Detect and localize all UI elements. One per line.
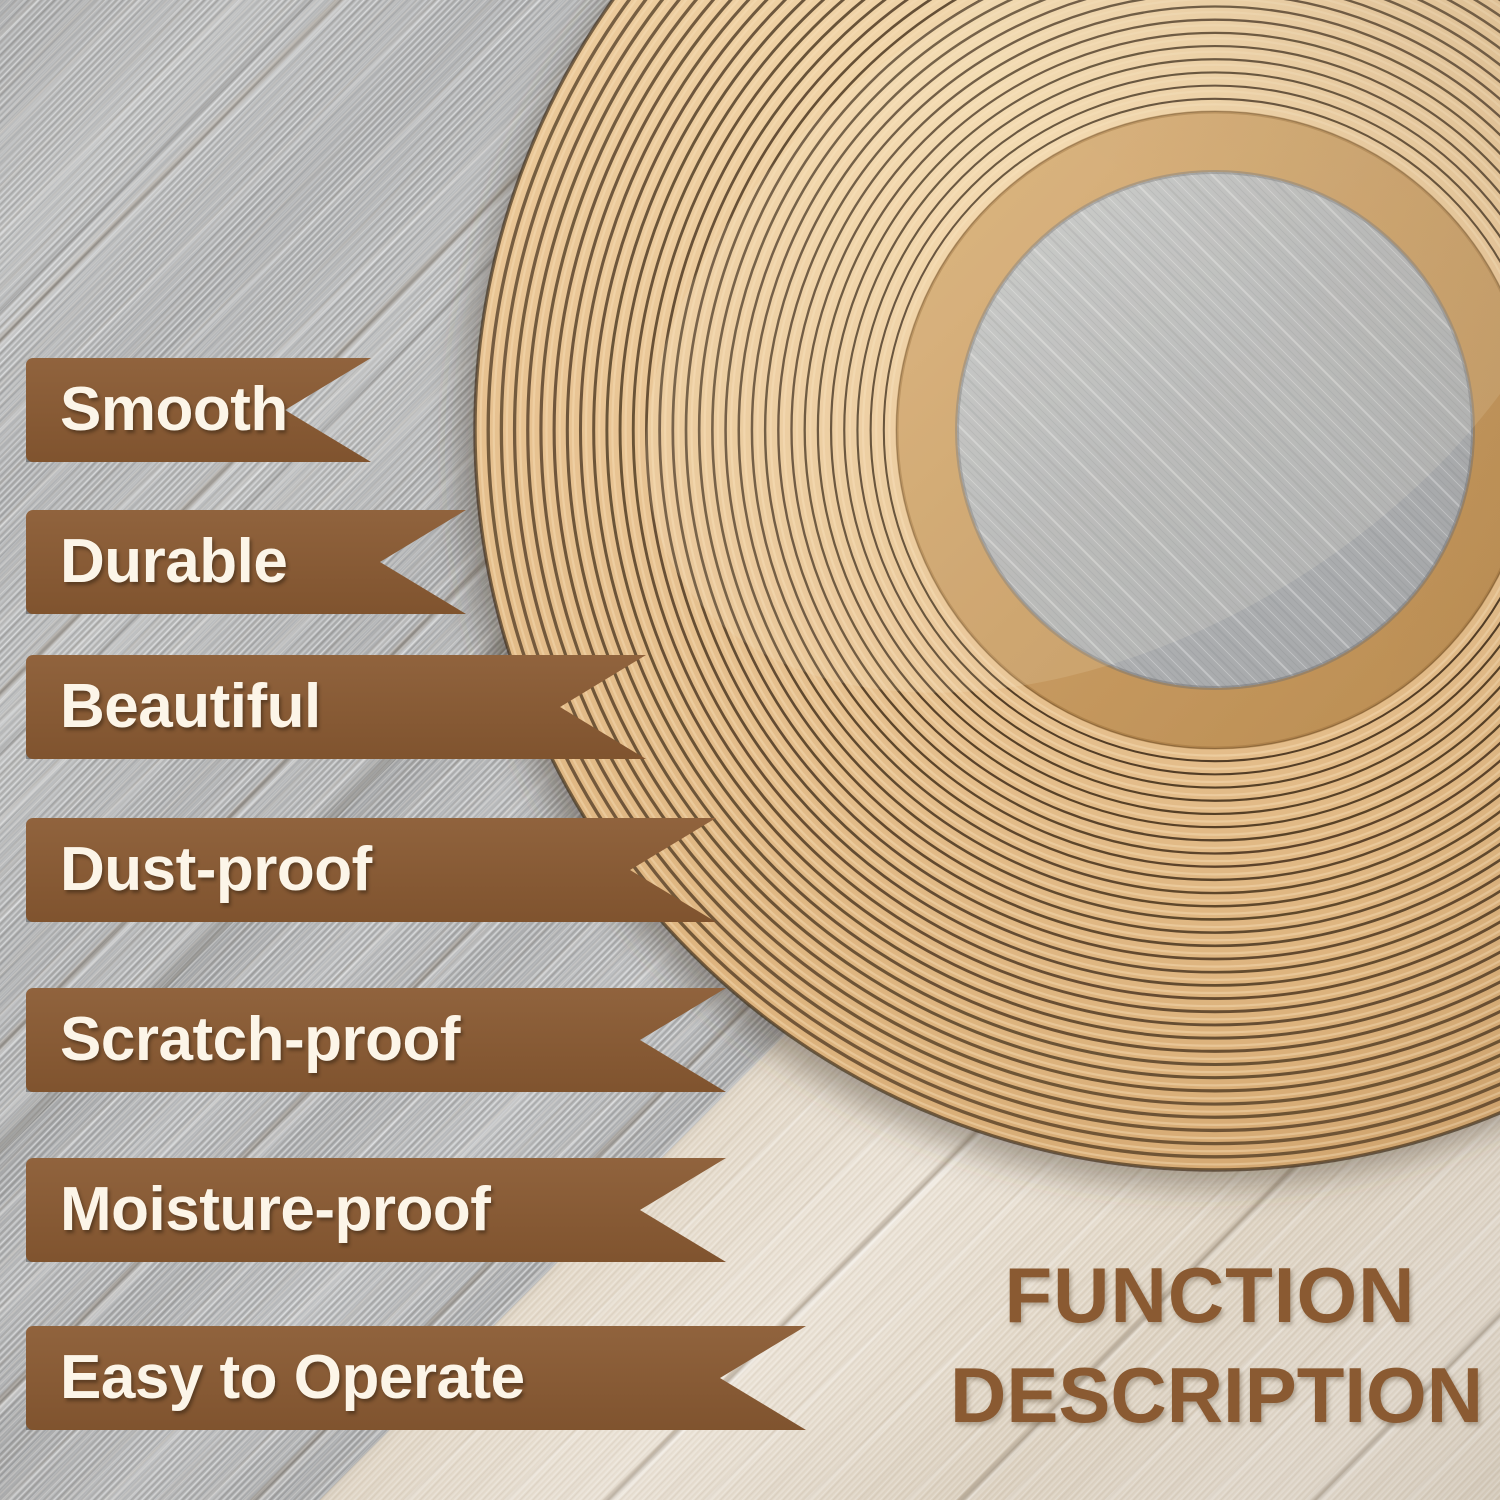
banner-label: Moisture-proof [60, 1179, 490, 1241]
feature-banner-dust-proof: Dust-proof [26, 818, 716, 922]
feature-banner-beautiful: Beautiful [26, 655, 646, 759]
banner-label: Scratch-proof [60, 1009, 460, 1071]
feature-banner-smooth: Smooth [26, 358, 371, 462]
function-description-heading: FUNCTION DESCRIPTION [950, 1246, 1470, 1446]
feature-banner-moisture-proof: Moisture-proof [26, 1158, 726, 1262]
banner-label: Durable [60, 531, 287, 593]
banner-label: Beautiful [60, 676, 321, 738]
feature-banner-easy-to-operate: Easy to Operate [26, 1326, 806, 1430]
banner-label: Easy to Operate [60, 1347, 525, 1409]
product-feature-image: SmoothDurableBeautifulDust-proofScratch-… [0, 0, 1500, 1500]
banner-label: Dust-proof [60, 839, 372, 901]
feature-banner-scratch-proof: Scratch-proof [26, 988, 726, 1092]
banner-label: Smooth [60, 379, 288, 441]
feature-banner-durable: Durable [26, 510, 466, 614]
heading-line-1: FUNCTION [950, 1246, 1470, 1346]
heading-line-2: DESCRIPTION [950, 1346, 1470, 1446]
